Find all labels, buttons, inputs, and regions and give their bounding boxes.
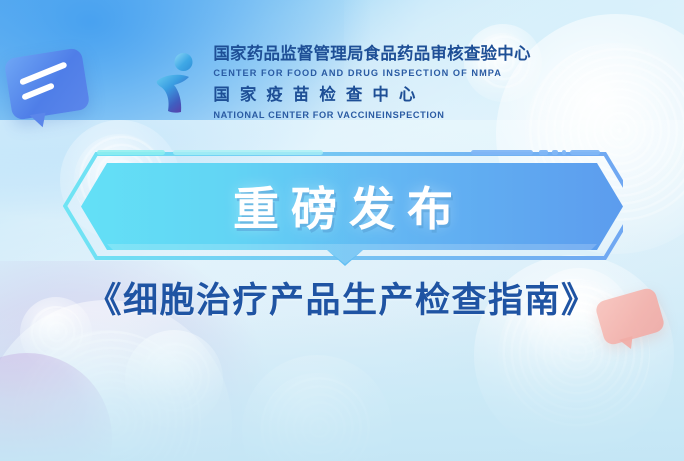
nmpa-figure-logo-icon <box>153 51 199 115</box>
cell-sphere <box>0 300 232 461</box>
org-name-cn-primary: 国家药品监督管理局食品药品审核查验中心 <box>213 46 530 63</box>
org-name-cn-secondary: 国家疫苗检查中心 <box>213 87 530 104</box>
headline-banner: 重磅发布 <box>63 148 623 270</box>
org-name-en-secondary: NATIONAL CENTER FOR VACCINEINSPECTION <box>213 110 530 120</box>
background-wash-bottom <box>0 311 684 461</box>
cell-sphere <box>125 330 223 428</box>
purple-sphere <box>0 353 112 461</box>
headline-text: 重磅发布 <box>63 162 623 250</box>
org-name-en-primary: CENTER FOR FOOD AND DRUG INSPECTION OF N… <box>213 68 530 78</box>
organization-header: 国家药品监督管理局食品药品审核查验中心 CENTER FOR FOOD AND … <box>0 46 684 120</box>
subtitle-text: 《细胞治疗产品生产检查指南》 <box>0 272 684 323</box>
bubble-tail <box>619 336 636 351</box>
organization-names: 国家药品监督管理局食品药品审核查验中心 CENTER FOR FOOD AND … <box>213 46 530 120</box>
poster-canvas: 国家药品监督管理局食品药品审核查验中心 CENTER FOR FOOD AND … <box>0 0 684 461</box>
cell-sphere <box>242 355 392 461</box>
